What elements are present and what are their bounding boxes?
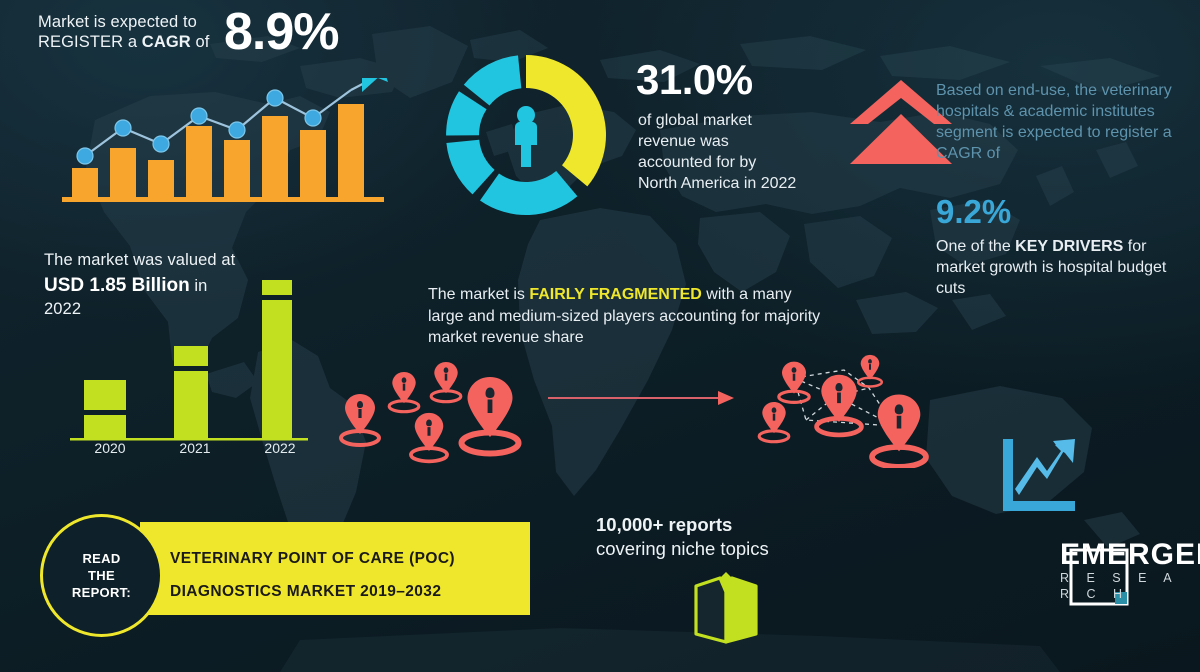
bar-2022: [262, 280, 292, 438]
pin-cluster-right: [744, 348, 954, 468]
infographic-canvas: Market is expected to REGISTER a CAGR of…: [0, 0, 1200, 672]
reports-subtitle: covering niche topics: [596, 537, 769, 561]
donut-slice-2: [480, 171, 577, 215]
key-drivers-text: One of the KEY DRIVERS for market growth…: [936, 236, 1184, 299]
fragmented-prefix: The market is: [428, 286, 529, 303]
progress-arrow-icon: [548, 388, 738, 408]
badge-line-2: THE: [72, 567, 131, 584]
read-the-report-badge[interactable]: READ THE REPORT:: [40, 514, 163, 637]
enduse-paragraph: Based on end-use, the veterinary hospita…: [936, 80, 1186, 164]
enduse-value: 9.2%: [936, 195, 1011, 229]
valuation-line-1: The market was valued at: [44, 250, 294, 270]
emergen-research-logo: EMERGEN R E S E A R C H: [1060, 540, 1190, 602]
donut-slice-3: [446, 140, 494, 195]
logo-subtitle: R E S E A R C H: [1060, 570, 1190, 602]
north-america-share-donut: [438, 47, 614, 223]
cagr-line-2-suffix: of: [191, 33, 210, 51]
report-banner[interactable]: [140, 522, 530, 615]
donut-value: 31.0%: [636, 58, 753, 102]
growth-bar-line-chart: [62, 78, 392, 203]
bar-2020: [84, 380, 126, 438]
report-title-line-1: VETERINARY POINT OF CARE (POC): [170, 550, 455, 568]
bar-2021: [174, 346, 208, 438]
cagr-value: 8.9%: [224, 6, 339, 58]
bar-chart-year-labels: 2020 2021 2022: [70, 440, 320, 456]
donut-slice-5: [464, 55, 522, 105]
year-label-2022: 2022: [240, 440, 320, 456]
key-drivers-prefix: One of the: [936, 238, 1015, 255]
badge-text: READ THE REPORT:: [72, 550, 131, 601]
reports-text-block: 10,000+ reports covering niche topics: [596, 513, 769, 561]
badge-line-3: REPORT:: [72, 584, 131, 601]
donut-description: of global market revenue was accounted f…: [638, 110, 798, 194]
fragmented-text: The market is FAIRLY FRAGMENTED with a m…: [428, 284, 828, 349]
donut-slice-north-america: [526, 55, 606, 186]
open-book-icon: [690, 568, 762, 650]
cagr-label: CAGR: [142, 33, 191, 51]
person-icon: [515, 106, 537, 167]
year-label-2021: 2021: [155, 440, 235, 456]
pin-cluster-left: [336, 352, 536, 467]
fragmented-highlight: FAIRLY FRAGMENTED: [529, 286, 701, 303]
cagr-line-2-prefix: REGISTER a: [38, 33, 142, 51]
report-title-line-2: DIAGNOSTICS MARKET 2019–2032: [170, 583, 441, 601]
reports-count: 10,000+ reports: [596, 513, 769, 537]
market-value-bar-chart: 2020 2021 2022: [70, 272, 320, 442]
growth-chart-icon: [997, 437, 1077, 517]
year-label-2020: 2020: [70, 440, 150, 456]
logo-name: EMERGEN: [1060, 540, 1190, 570]
badge-line-1: READ: [72, 550, 131, 567]
key-drivers-label: KEY DRIVERS: [1015, 238, 1123, 255]
